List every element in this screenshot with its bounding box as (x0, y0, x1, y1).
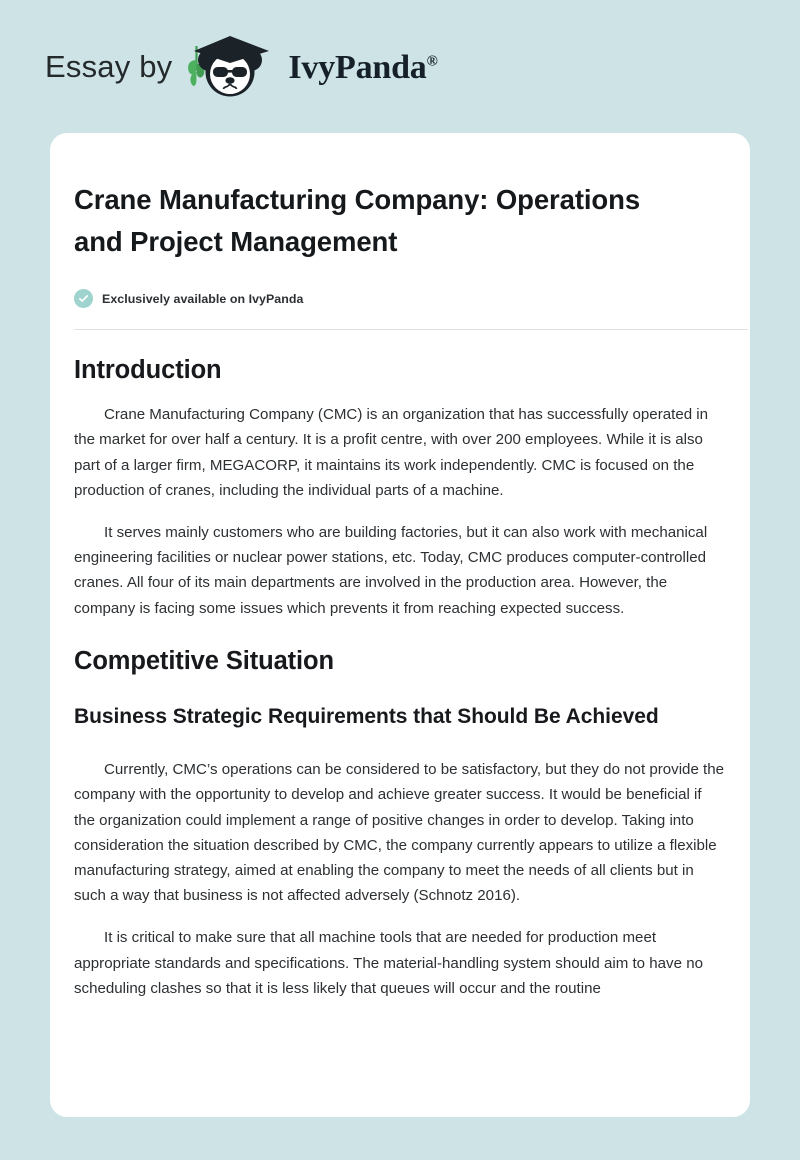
panda-graduate-logo (183, 30, 277, 102)
trademark-symbol: ® (427, 53, 438, 69)
page-header: Essay by (0, 0, 800, 133)
section-heading-introduction: Introduction (74, 356, 724, 385)
brand-name-label: IvyPanda® (288, 51, 437, 85)
brand-prefix-label: Essay by (45, 51, 172, 82)
document-card: Crane Manufacturing Company: Operations … (50, 133, 750, 1117)
paragraph: Crane Manufacturing Company (CMC) is an … (74, 402, 724, 503)
paragraph: It serves mainly customers who are build… (74, 520, 724, 621)
section-heading-competitive-situation: Competitive Situation (74, 647, 724, 676)
paragraph: It is critical to make sure that all mac… (74, 925, 724, 1001)
check-circle-icon (74, 289, 93, 308)
status-badge: Exclusively available on IvyPanda (74, 289, 724, 308)
subsection-heading-business-strategic-requirements: Business Strategic Requirements that Sho… (74, 700, 674, 734)
header-divider (74, 329, 748, 330)
paragraph: Currently, CMC’s operations can be consi… (74, 757, 724, 908)
page-title: Crane Manufacturing Company: Operations … (74, 179, 694, 263)
brand-name-text: IvyPanda (288, 49, 426, 86)
brand-lockup[interactable]: Essay by (45, 30, 438, 104)
status-badge-label: Exclusively available on IvyPanda (102, 292, 303, 306)
